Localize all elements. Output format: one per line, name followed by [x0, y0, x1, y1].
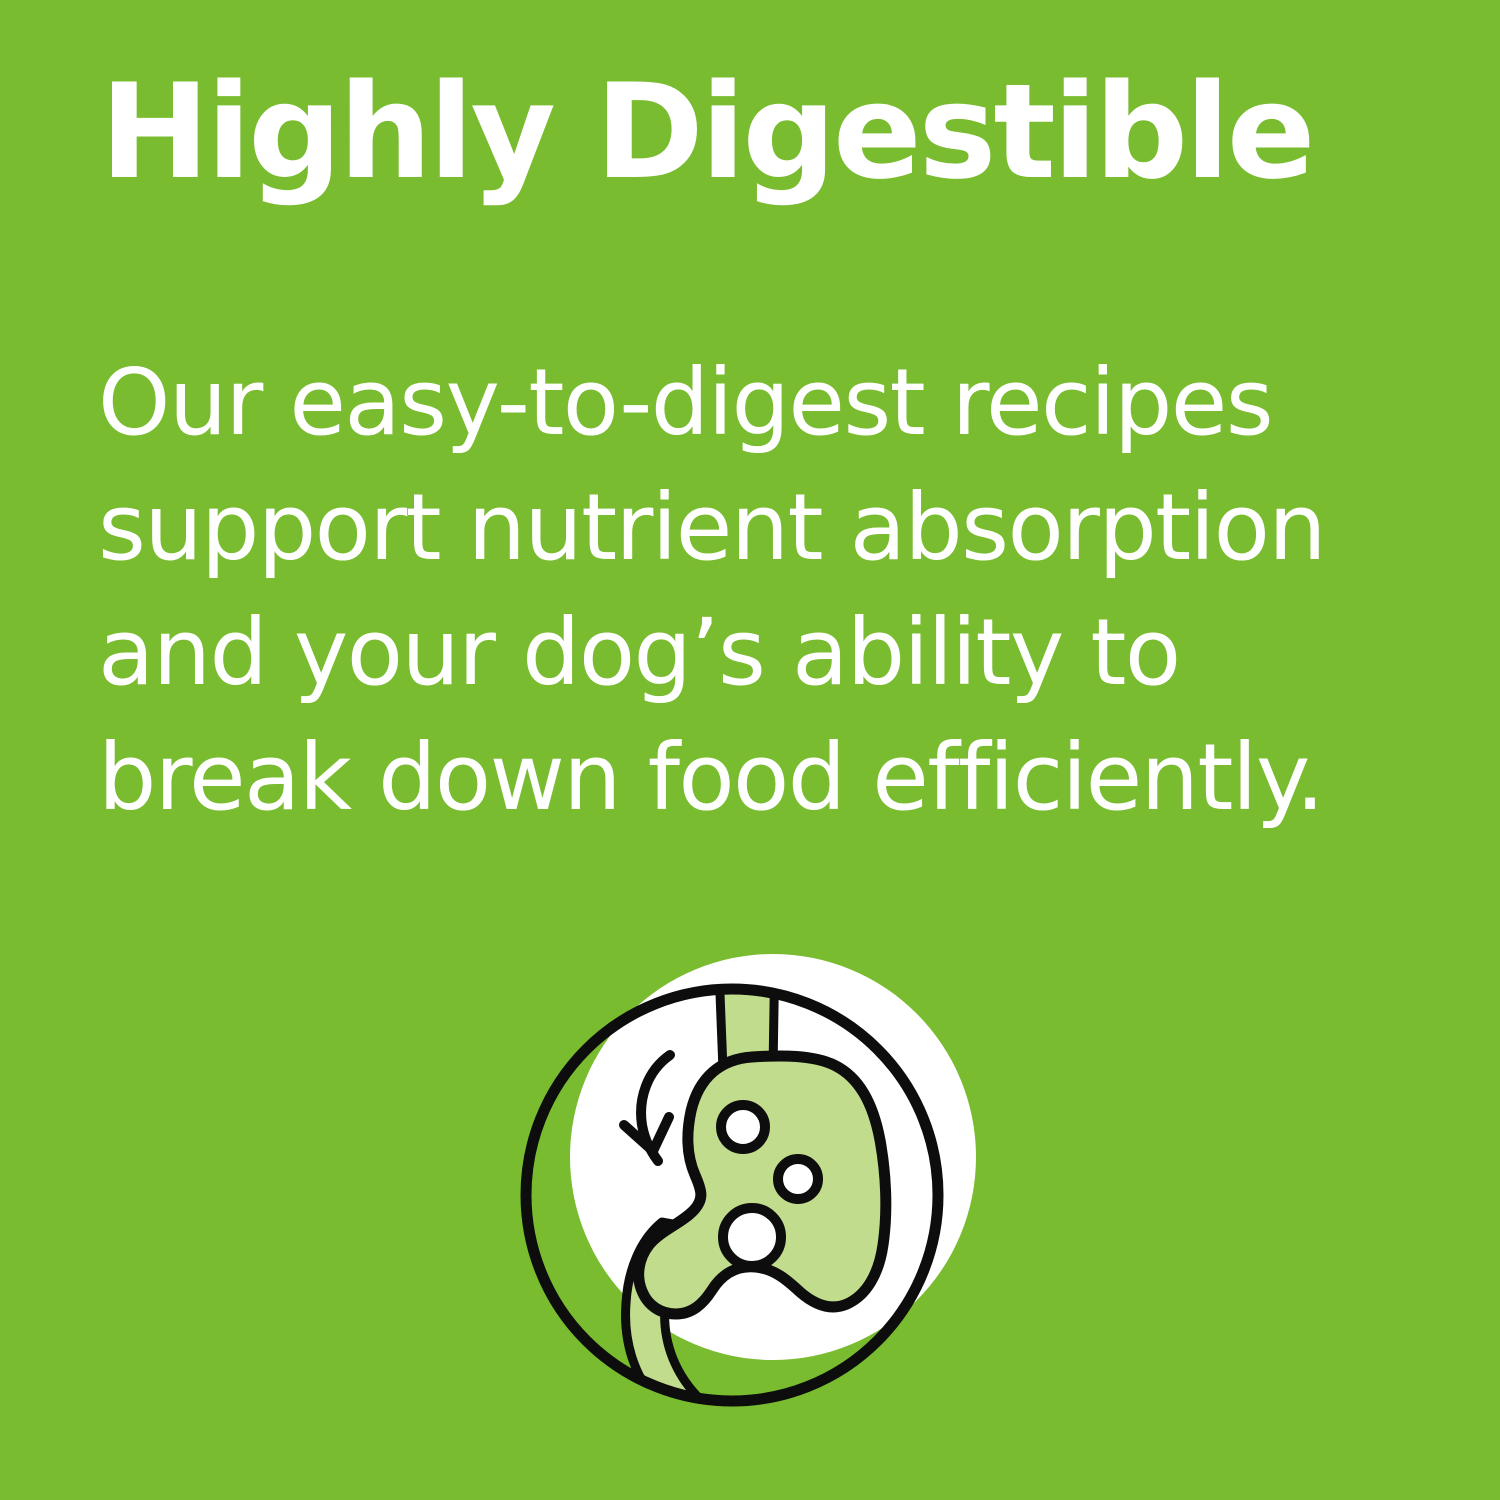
body-line-1: Our easy-to-digest recipes [98, 340, 1428, 465]
page-title: Highly Digestible [100, 66, 1420, 197]
bubble-lower [723, 1208, 781, 1266]
bubble-middle [778, 1159, 818, 1199]
bubble-upper [721, 1105, 765, 1149]
body-line-2: support nutrient absorption [98, 465, 1428, 590]
highly-digestible-card: Highly Digestible Our easy-to-digest rec… [0, 0, 1500, 1500]
body-copy: Our easy-to-digest recipes support nutri… [98, 340, 1428, 840]
body-line-4: break down food efficiently. [98, 715, 1428, 840]
body-line-3: and your dog’s ability to [98, 590, 1428, 715]
stomach-digestion-icon [490, 925, 1010, 1425]
